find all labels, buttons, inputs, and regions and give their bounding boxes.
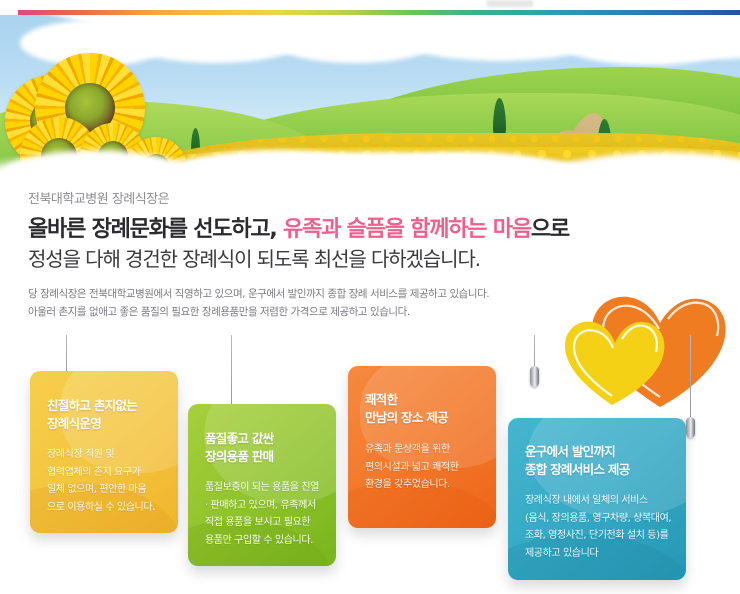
hero-banner-image <box>0 15 740 190</box>
card-title: 운구에서 발인까지종합 장례서비스 제공 <box>525 443 686 479</box>
card-body: 품질보증이 되는 용품을 진열· 판매하고 있으며, 유족께서직접 용품을 보시… <box>205 479 336 549</box>
page-root: 전북대학교병원 장례식장은 올바른 장례문화를 선도하고, 유족과 슬픔을 함께… <box>0 0 740 594</box>
feature-card-goods[interactable]: 품질좋고 값싼장의용품 판매 품질보증이 되는 용품을 진열· 판매하고 있으며… <box>188 404 336 566</box>
feature-card-fullservice[interactable]: 운구에서 발인까지종합 장례서비스 제공 장례식장 내에서 일체의 서비스(음식… <box>508 418 686 580</box>
card-title: 쾌적한만남의 장소 제공 <box>365 391 496 427</box>
card-body: 장례식장 내에서 일체의 서비스(음식, 장의용품, 영구차량, 상복대여,조화… <box>525 492 686 562</box>
headline-highlight: 유족과 슬픔을 함께하는 마음 <box>283 217 531 242</box>
headline-part-1: 올바른 장례문화를 선도하고, <box>28 217 283 242</box>
pin-head <box>686 417 695 438</box>
pin-head <box>530 366 539 387</box>
card-title: 품질좋고 값싼장의용품 판매 <box>205 430 336 466</box>
headline-line-2: 정성을 다해 경건한 장례식이 되도록 최선을 다하겠습니다. <box>28 244 718 274</box>
top-edge-artifact <box>487 0 533 7</box>
feature-card-kindness[interactable]: 친절하고 촌지없는장례식운영 장례식장 직원 및협력업체의 촌지 요구가일체 없… <box>30 371 178 533</box>
card-body: 유족과 문상객을 위한편의시설과 넓고 쾌적한환경을 갖추었습니다. <box>365 441 496 494</box>
headline-line-1: 올바른 장례문화를 선도하고, 유족과 슬픔을 함께하는 마음으로 <box>28 215 718 245</box>
headline-part-3: 으로 <box>531 217 569 242</box>
hearts-decoration <box>556 283 728 413</box>
banner-white-fade <box>0 156 740 190</box>
card-body: 장례식장 직원 및협력업체의 촌지 요구가일체 없으며, 편안한 마음으로 이용… <box>47 446 178 516</box>
kicker-text: 전북대학교병원 장례식장은 <box>28 192 718 208</box>
hearts-svg <box>556 283 728 413</box>
feature-card-venue[interactable]: 쾌적한만남의 장소 제공 유족과 문상객을 위한편의시설과 넓고 쾌적한환경을 … <box>348 366 496 528</box>
card-title: 친절하고 촌지없는장례식운영 <box>47 397 178 433</box>
